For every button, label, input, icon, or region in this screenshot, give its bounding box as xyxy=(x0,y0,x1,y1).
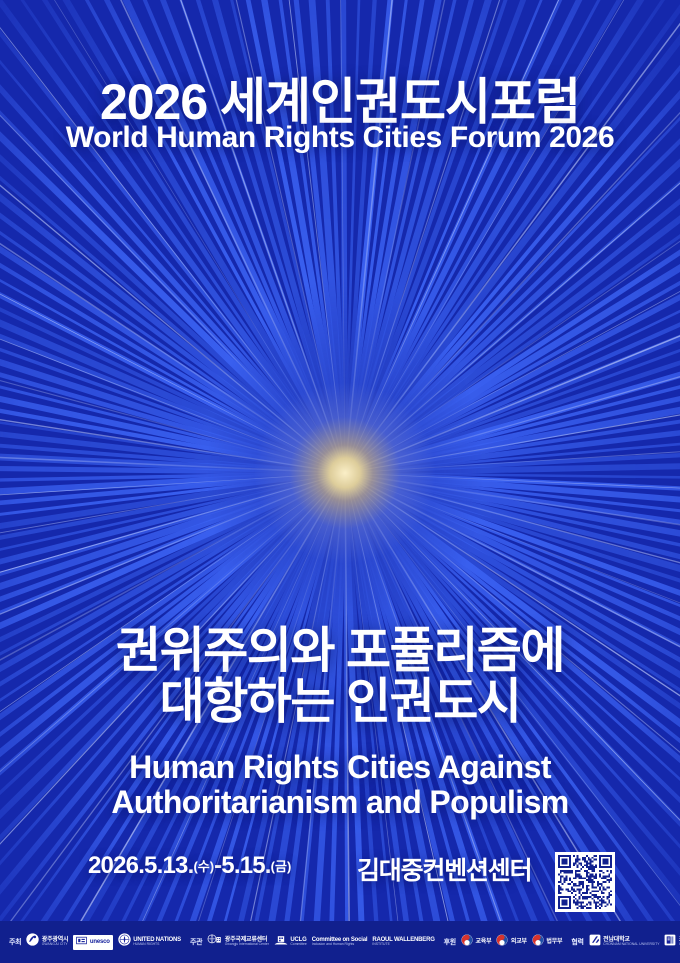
headline-english-line1: Human Rights Cities Against xyxy=(129,749,551,785)
sponsor-logo-ministry-of-education: 교육부 xyxy=(461,935,491,950)
chosun-university-icon xyxy=(664,933,676,951)
sponsor-logo-raoul-wallenberg-institute: RAOUL WALLENBERGINSTITUTE xyxy=(372,935,434,950)
headline-korean-line2: 대항하는 인권도시 xyxy=(0,677,680,728)
event-date-start-weekday: (수) xyxy=(193,859,214,874)
sponsor-group-label: 협력 xyxy=(571,937,583,947)
sponsor-logo-uclg: UCLGCommittee xyxy=(274,935,307,950)
unesco-mark xyxy=(76,935,87,946)
korea-government-taegeuk-mark xyxy=(532,934,544,946)
gwangju-metropolitan-city-icon xyxy=(26,933,39,951)
sponsor-logo-text: 외교부 xyxy=(511,939,527,945)
event-date-start: 2026.5.13. xyxy=(88,852,193,879)
event-date-end-weekday: (금) xyxy=(271,859,292,874)
ministry-of-education-icon xyxy=(461,933,473,951)
sponsor-logo-ministry-of-justice: 법무부 xyxy=(532,935,562,950)
uclg-icon xyxy=(274,933,288,951)
sponsor-logo-text: unesco xyxy=(90,939,110,945)
chonnam-national-university-icon xyxy=(589,933,601,951)
event-venue: 김대중컨벤션센터 xyxy=(357,851,531,887)
ministry-of-foreign-affairs-icon xyxy=(496,933,508,951)
qr-code-image xyxy=(558,855,612,909)
sponsor-logo-uclg-committee-human-rights: Committee on SocialInclusion and Human R… xyxy=(312,935,368,950)
event-date: 2026.5.13.(수)-5.15.(금) xyxy=(88,852,291,880)
sponsor-logo-chosun-university: 조선대학교CHOSUN UNIVERSITY xyxy=(664,935,680,950)
sponsor-logo-subtitle: Inclusion and Human Rights xyxy=(312,943,368,947)
sponsor-group-1: 주관광주국제교류센터Gwangju International CenterUC… xyxy=(190,935,435,950)
sponsor-logo-gwangju-metropolitan-city: 광주광역시GWANGJU CITY xyxy=(26,935,68,950)
sponsor-logo-text: 전남대학교CHONNAM NATIONAL UNIVERSITY xyxy=(603,937,659,947)
un-human-rights-icon xyxy=(118,933,131,951)
sponsor-group-0: 주최광주광역시GWANGJU CITYunescoUNITED NATIONSH… xyxy=(9,935,181,950)
event-date-end: 5.15. xyxy=(221,852,270,879)
sponsor-logo-text: UCLGCommittee xyxy=(290,937,306,947)
ministry-of-justice-icon xyxy=(532,933,544,951)
sponsor-logo-text: 광주국제교류센터Gwangju International Center xyxy=(225,937,269,947)
korea-government-taegeuk-mark xyxy=(496,934,508,946)
sponsor-group-label: 후원 xyxy=(444,937,456,947)
sponsor-logo-ministry-of-foreign-affairs: 외교부 xyxy=(496,935,526,950)
sponsor-group-label: 주최 xyxy=(9,937,21,947)
gwangju-city-mark xyxy=(26,933,39,946)
sponsor-logo-subtitle: INSTITUTE xyxy=(372,943,434,947)
headline-korean: 권위주의와 포퓰리즘에 대항하는 인권도시 xyxy=(0,626,680,728)
sponsor-logo-text: Committee on SocialInclusion and Human R… xyxy=(312,937,368,947)
sponsor-group-2: 후원교육부외교부법무부 xyxy=(444,935,563,950)
sponsor-logo-unesco: unesco xyxy=(73,935,112,950)
sponsor-logo-text: RAOUL WALLENBERGINSTITUTE xyxy=(372,937,434,947)
poster-canvas: 2026 세계인권도시포럼 World Human Rights Cities … xyxy=(0,0,680,963)
sponsor-group-3: 협력전남대학교CHONNAM NATIONAL UNIVERSITY조선대학교C… xyxy=(571,935,680,950)
sponsor-logo-text: 광주광역시GWANGJU CITY xyxy=(42,937,69,947)
gwangju-international-center-icon xyxy=(207,933,222,951)
sponsor-logo-subtitle: CHONNAM NATIONAL UNIVERSITY xyxy=(603,943,659,947)
headline-english: Human Rights Cities Against Authoritaria… xyxy=(0,750,680,820)
korea-government-taegeuk-mark xyxy=(461,934,473,946)
sponsor-logo-subtitle: Gwangju International Center xyxy=(225,943,269,947)
chonnam-national-university-mark xyxy=(589,934,601,946)
sponsor-footer: 주최광주광역시GWANGJU CITYunescoUNITED NATIONSH… xyxy=(0,921,680,963)
sponsor-logo-text: 교육부 xyxy=(475,939,491,945)
unesco-icon xyxy=(76,933,87,951)
headline-english-line2: Authoritarianism and Populism xyxy=(0,785,680,820)
sponsor-logo-subtitle: Committee xyxy=(290,943,306,947)
sponsor-logo-text: UNITED NATIONSHUMAN RIGHTS xyxy=(133,937,181,947)
qr-code[interactable] xyxy=(555,852,615,912)
sponsor-logo-subtitle: GWANGJU CITY xyxy=(42,943,69,947)
sponsor-logo-gwangju-international-center: 광주국제교류센터Gwangju International Center xyxy=(207,935,269,950)
headline-korean-line1: 권위주의와 포퓰리즘에 xyxy=(116,624,564,678)
sponsor-logo-subtitle: HUMAN RIGHTS xyxy=(133,943,181,947)
page-title-english: World Human Rights Cities Forum 2026 xyxy=(0,121,680,155)
sponsor-logo-chonnam-national-university: 전남대학교CHONNAM NATIONAL UNIVERSITY xyxy=(589,935,660,950)
un-human-rights-mark xyxy=(118,933,131,946)
sponsor-logo-un-human-rights: UNITED NATIONSHUMAN RIGHTS xyxy=(118,935,181,950)
sponsor-group-label: 주관 xyxy=(190,937,202,947)
uclg-mark xyxy=(274,934,288,946)
sponsor-logo-text: 법무부 xyxy=(546,939,562,945)
gwangju-international-center-mark xyxy=(207,933,222,946)
chosun-university-mark xyxy=(664,934,676,946)
